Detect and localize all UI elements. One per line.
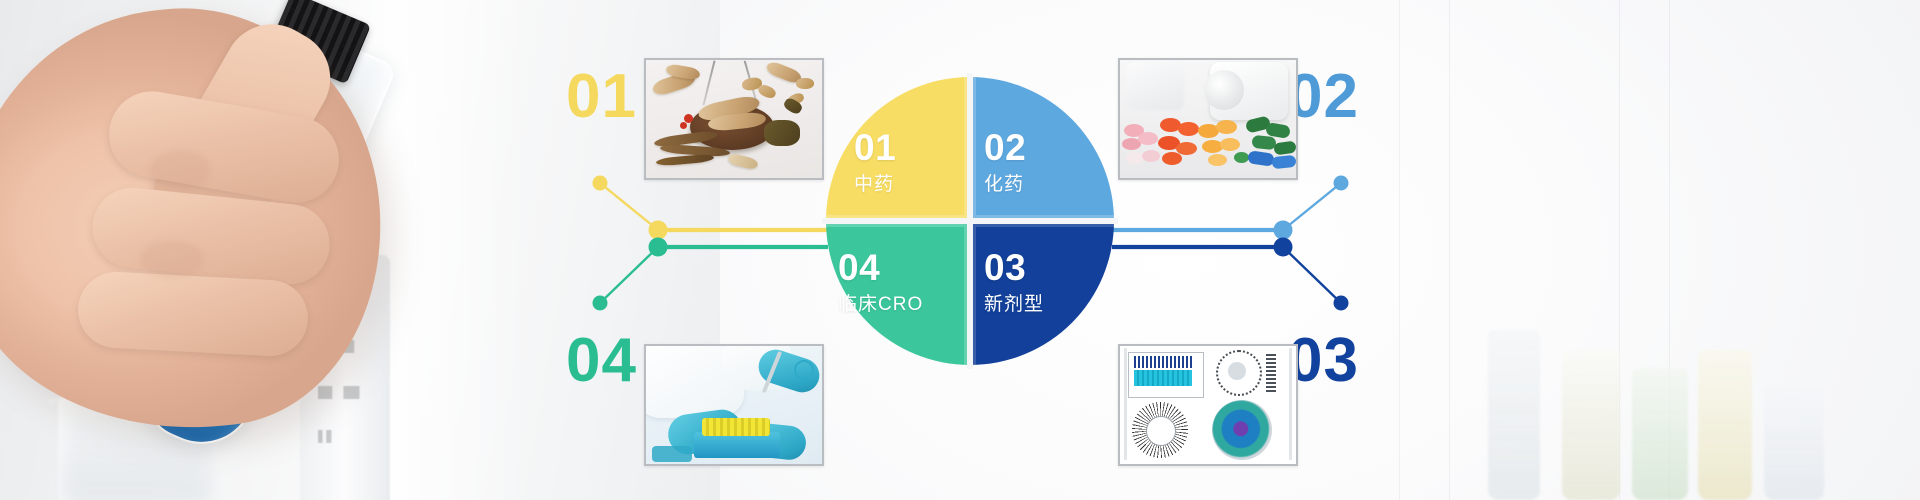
quadrant-label-03: 03 新剂型 xyxy=(984,249,1044,314)
thumbnail-pills-photo xyxy=(1120,60,1296,178)
thumbnail-diagram[interactable] xyxy=(1118,344,1298,466)
shelf-tube xyxy=(1488,330,1540,500)
cylinder-marking xyxy=(318,386,380,399)
quadrant-number-01: 01 xyxy=(854,129,896,166)
thumbnail-diagram-image xyxy=(1120,346,1296,464)
outer-number-01: 01 xyxy=(566,66,637,128)
outer-number-02: 02 xyxy=(1288,66,1359,128)
quadrant-text-02: 化药 xyxy=(984,175,1026,194)
infographic-stage: 01 中药 02 化药 03 新剂型 04 临床CRO 01 02 03 04 xyxy=(0,0,1920,500)
quadrant-text-01: 中药 xyxy=(854,175,896,194)
pill-bottle-cap xyxy=(1204,70,1244,110)
shelf-tube xyxy=(1698,350,1752,500)
outer-number-04: 04 xyxy=(566,330,637,392)
connector-line-03-diagonal xyxy=(1283,247,1341,303)
quadrant-label-04: 04 临床CRO xyxy=(838,249,923,314)
thumbnail-herbs-photo xyxy=(646,60,822,178)
shelf-tube xyxy=(1632,368,1688,500)
thumbnail-lab-gloves-photo xyxy=(646,346,822,464)
finger-little xyxy=(76,270,310,358)
connector-line-02-diagonal xyxy=(1283,183,1341,230)
outer-number-03: 03 xyxy=(1288,330,1359,392)
quadrant-number-02: 02 xyxy=(984,129,1026,166)
quadrant-label-01: 01 中药 xyxy=(854,129,896,194)
knuckle-shadow xyxy=(140,240,204,278)
shelf-tube xyxy=(1764,380,1824,500)
quadrant-number-04: 04 xyxy=(838,249,923,286)
knuckle-shadow xyxy=(150,150,210,190)
quadrant-label-02: 02 化药 xyxy=(984,129,1026,194)
connector-junction-02 xyxy=(1274,221,1293,240)
quadrant-number-03: 03 xyxy=(984,249,1044,286)
thumbnail-lab-gloves[interactable] xyxy=(644,344,824,466)
central-quadrant-circle: 01 中药 02 化药 03 新剂型 04 临床CRO xyxy=(826,77,1114,365)
cylinder-marking xyxy=(318,430,338,443)
thumbnail-herbs[interactable] xyxy=(644,58,824,180)
quadrant-text-04: 临床CRO xyxy=(838,295,923,314)
shelf-tube xyxy=(1562,350,1620,500)
quadrant-divider-horizontal xyxy=(822,218,1118,224)
quadrant-top-left[interactable] xyxy=(826,77,970,221)
background-lab-shelf xyxy=(1360,0,1920,500)
thumbnail-pills[interactable] xyxy=(1118,58,1298,180)
quadrant-text-03: 新剂型 xyxy=(984,295,1044,314)
pipette-tips xyxy=(702,418,770,436)
quadrant-top-left-fill xyxy=(826,77,970,221)
connector-endpoint-03 xyxy=(1334,296,1349,311)
connector-endpoint-02 xyxy=(1334,176,1349,191)
connector-junction-03 xyxy=(1274,238,1293,257)
